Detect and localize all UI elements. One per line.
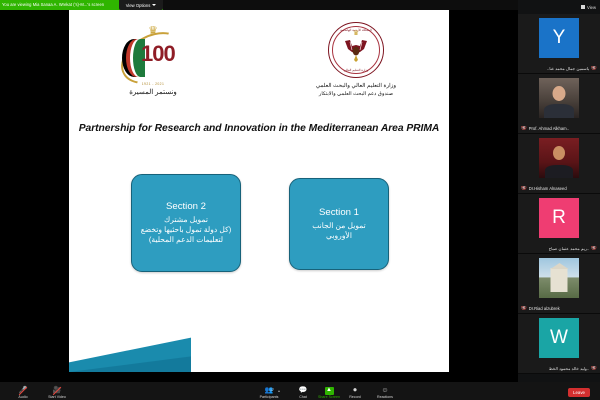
- rail-view-bar: View: [518, 0, 600, 14]
- view-button-label: View: [587, 5, 596, 10]
- participant-name: Prof. Ahmad Alkham..: [529, 126, 569, 131]
- participant-name: ياسمين جمال محمد غنا..: [547, 66, 589, 71]
- mic-muted-icon: 🔇: [591, 366, 597, 371]
- section-2-arabic-line3: لتعليمات الدعم المحلية): [143, 235, 229, 245]
- slide-logos: ♛ 100 1921 - 2021 ونستمر المسيرة: [69, 22, 449, 118]
- mic-muted-icon: 🔇: [521, 186, 527, 191]
- section-1-title: Section 1: [319, 207, 359, 218]
- participant-avatar: R: [539, 198, 579, 238]
- slide-sections: Section 2 تمويل مشترك (كل دولة تمول باحث…: [69, 170, 449, 280]
- start-video-label: Start Video: [40, 395, 74, 399]
- shared-screen-stage[interactable]: ♛ 100 1921 - 2021 ونستمر المسيرة: [0, 10, 518, 382]
- participant-tile[interactable]: W 🔇 ..وليد خالد محمود الخط: [518, 314, 600, 374]
- view-options-button[interactable]: View Options: [119, 0, 163, 10]
- section-1-box: Section 1 تمويل من الجانب الأوروبي: [289, 178, 389, 270]
- participant-rail: View Y 🔇 ياسمين جمال محمد غنا.. 🔇 Prof.: [518, 0, 600, 382]
- meeting-toolbar: 🎤 Audio 🎥 Start Video 👥 17 Participants …: [0, 382, 600, 400]
- microphone-muted-icon: 🎤: [6, 387, 40, 395]
- participant-video: [539, 258, 579, 298]
- participant-name: ..ريم محمد عثمان صباح: [549, 246, 590, 251]
- participant-tile[interactable]: R 🔇 ..ريم محمد عثمان صباح: [518, 194, 600, 254]
- zoom-meeting-window: You are viewing Mia Sanaa A. Wrekat ('s)…: [0, 0, 600, 400]
- participants-count: 17: [270, 387, 274, 394]
- mic-muted-icon: 🔇: [591, 246, 597, 251]
- audio-button[interactable]: 🎤 Audio: [6, 387, 40, 400]
- participant-tile[interactable]: 🔇 Prof. Ahmad Alkham..: [518, 74, 600, 134]
- mic-muted-icon: 🔇: [521, 126, 527, 131]
- reactions-icon: ☺: [368, 387, 402, 395]
- participant-video: [539, 138, 579, 178]
- avatar: W: [539, 318, 579, 358]
- seal-bottom-text: وزارة التعليم العالي: [344, 68, 369, 72]
- participant-avatar: Y: [539, 18, 579, 58]
- video-thumbnail: [539, 78, 579, 118]
- section-2-title: Section 2: [166, 201, 206, 212]
- participant-name-bar: 🔇 Dr.Hisham Alnaseed: [521, 186, 597, 191]
- centennial-logo: ♛ 100 1921 - 2021 ونستمر المسيرة: [99, 26, 207, 96]
- participant-name: Dr.Riad alzubrek: [529, 306, 560, 311]
- participants-icon: 👥 17: [252, 387, 286, 395]
- ministry-name-line2: صندوق دعم البحث العلمي والابتكار: [291, 91, 421, 97]
- participants-button[interactable]: 👥 17 Participants: [252, 387, 286, 400]
- start-video-button[interactable]: 🎥 Start Video: [40, 387, 74, 400]
- chevron-down-icon: [152, 4, 156, 6]
- participant-name: ..وليد خالد محمود الخط: [549, 366, 589, 371]
- participant-avatar: W: [539, 318, 579, 358]
- participant-name-bar: 🔇 ياسمين جمال محمد غنا..: [521, 66, 597, 71]
- building-image: [551, 268, 568, 292]
- view-options-label: View Options: [126, 3, 151, 8]
- video-thumbnail: [539, 258, 579, 298]
- grid-view-icon: [581, 5, 585, 9]
- participant-tile[interactable]: 🔇 Dr.Hisham Alnaseed: [518, 134, 600, 194]
- record-label: Record: [338, 395, 372, 399]
- participant-tile[interactable]: Y 🔇 ياسمين جمال محمد غنا..: [518, 14, 600, 74]
- ministry-seal: المملكة الأردنية الهاشمية وزارة التعليم …: [328, 22, 384, 78]
- participant-name-bar: 🔇 Dr.Riad alzubrek: [521, 306, 597, 311]
- participant-name-bar: 🔇 Prof. Ahmad Alkham..: [521, 126, 597, 131]
- participants-label: Participants: [252, 395, 286, 399]
- participant-name-bar: 🔇 ..وليد خالد محمود الخط: [521, 366, 597, 371]
- avatar: R: [539, 198, 579, 238]
- participant-tile[interactable]: 🔇 Dr.Riad alzubrek: [518, 254, 600, 314]
- record-icon: ⏺: [338, 387, 372, 395]
- section-2-box: Section 2 تمويل مشترك (كل دولة تمول باحث…: [131, 174, 241, 272]
- leave-button[interactable]: Leave: [568, 388, 590, 397]
- participant-name-bar: 🔇 ..ريم محمد عثمان صباح: [521, 246, 597, 251]
- ministry-name-line1: وزارة التعليم العالي والبحث العلمي: [291, 83, 421, 89]
- mic-muted-icon: 🔇: [521, 306, 527, 311]
- video-camera-muted-icon: 🎥: [40, 387, 74, 395]
- view-button[interactable]: View: [581, 5, 596, 10]
- slide-title: Partnership for Research and Innovation …: [69, 123, 449, 134]
- section-2-arabic-line1: تمويل مشترك: [158, 215, 214, 225]
- crown-icon: ♛: [353, 30, 359, 37]
- presentation-slide: ♛ 100 1921 - 2021 ونستمر المسيرة: [69, 10, 449, 372]
- reactions-label: Reactions: [368, 395, 402, 399]
- reactions-button[interactable]: ☺ Reactions: [368, 387, 402, 400]
- share-banner-text: You are viewing Mia Sanaa A. Wrekat ('s)…: [2, 0, 104, 10]
- avatar: Y: [539, 18, 579, 58]
- mic-muted-icon: 🔇: [591, 66, 597, 71]
- participant-video: [539, 78, 579, 118]
- centennial-mark: ♛ 100: [117, 26, 189, 86]
- record-button[interactable]: ⏺ Record: [338, 387, 372, 400]
- section-1-arabic-line2: الأوروبي: [320, 231, 358, 241]
- centennial-arabic-slogan: ونستمر المسيرة: [99, 88, 207, 96]
- ministry-logo: المملكة الأردنية الهاشمية وزارة التعليم …: [291, 22, 421, 97]
- video-thumbnail: [539, 138, 579, 178]
- participant-name: Dr.Hisham Alnaseed: [529, 186, 567, 191]
- eagle-emblem-icon: [341, 38, 371, 62]
- centennial-number: 100: [141, 43, 175, 65]
- chevron-up-icon: [278, 390, 280, 392]
- audio-label: Audio: [6, 395, 40, 399]
- section-1-arabic-line1: تمويل من الجانب: [306, 221, 372, 231]
- section-2-arabic-line2: (كل دولة تمول باحثيها وتخضع: [135, 225, 238, 235]
